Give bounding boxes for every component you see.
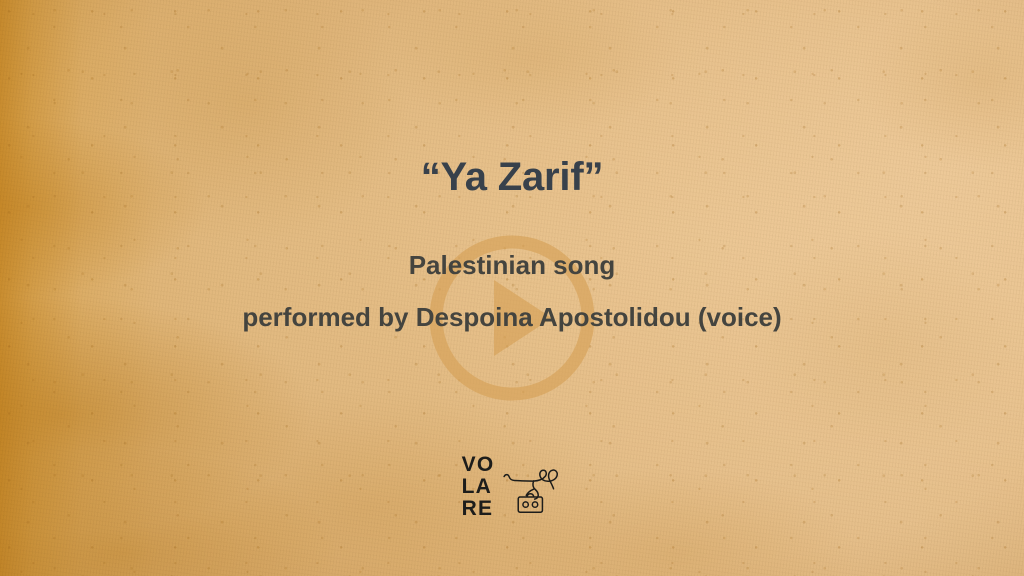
volare-logo: VO LA RE (462, 452, 563, 522)
slide-subtitle-genre: Palestinian song (0, 250, 1024, 281)
page-title: “Ya Zarif” (0, 155, 1024, 199)
slide-subtitle-performer: performed by Despoina Apostolidou (voice… (0, 302, 1024, 333)
volare-wordmark-line-2: LA (462, 476, 492, 498)
volare-wordmark-line-3: RE (462, 498, 494, 520)
presentation-slide: “Ya Zarif” Palestinian song performed by… (0, 0, 1024, 576)
volare-wordmark-line-1: VO (462, 454, 495, 476)
volare-wordmark: VO LA RE (462, 454, 495, 521)
bird-with-suitcase-icon (500, 456, 562, 522)
